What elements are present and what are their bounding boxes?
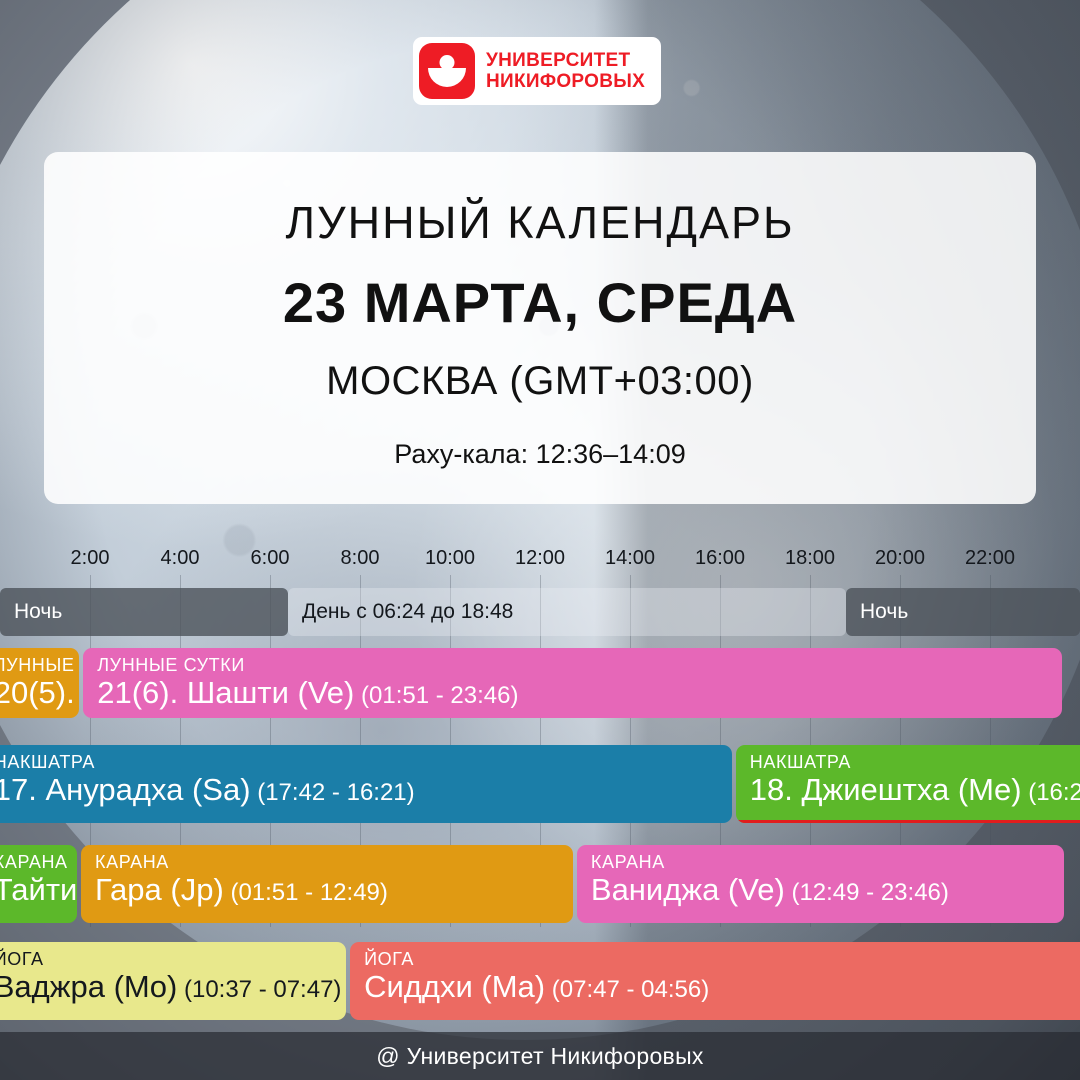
brand-name: УНИВЕРСИТЕТ НИКИФОРОВЫХ	[486, 50, 645, 92]
night-segment: Ночь	[0, 588, 288, 636]
segment-title: 20(5). Панчами (Ju)	[0, 675, 79, 711]
smiling-moon-icon	[419, 43, 475, 99]
timeline-rows: ЛУННЫЕ СУТКИ20(5). Панчами (Ju)ЛУННЫЕ СУ…	[0, 640, 1080, 1030]
timeline-segment[interactable]: ЙОГАВаджра (Mo) (10:37 - 07:47)	[0, 942, 346, 1020]
rahu-kala-text: Раху-кала: 12:36–14:09	[394, 441, 685, 468]
segment-range: (10:37 - 07:47)	[177, 976, 341, 1003]
segment-range: (17:42 - 16:21)	[251, 779, 415, 806]
day-segment: День с 06:24 до 18:48	[288, 588, 846, 636]
timeline-row-nakshatra: НАКШАТРА17. Анурадха (Sa) (17:42 - 16:21…	[0, 745, 1080, 823]
day-night-label: Ночь	[0, 600, 62, 624]
timeline-row-lunar-day: ЛУННЫЕ СУТКИ20(5). Панчами (Ju)ЛУННЫЕ СУ…	[0, 648, 1080, 718]
time-tick-label: 10:00	[425, 547, 475, 570]
time-tick-label: 2:00	[71, 547, 110, 570]
segment-range: (01:51 - 23:46)	[354, 682, 518, 709]
segment-title: Ваджра (Mo) (10:37 - 07:47)	[0, 969, 346, 1008]
lunar-calendar-infographic: УНИВЕРСИТЕТ НИКИФОРОВЫХ ЛУННЫЙ КАЛЕНДАРЬ…	[0, 0, 1080, 1080]
time-tick-label: 16:00	[695, 547, 745, 570]
segment-title: Гара (Jp) (01:51 - 12:49)	[95, 872, 573, 911]
segment-range: (07:47 - 04:56)	[545, 976, 709, 1003]
header-city-timezone: МОСКВА (GMT+03:00)	[326, 361, 754, 401]
time-tick-label: 20:00	[875, 547, 925, 570]
day-night-label: Ночь	[846, 600, 908, 624]
page-title: ЛУННЫЙ КАЛЕНДАРЬ	[285, 200, 794, 245]
segment-category: ЙОГА	[0, 949, 346, 969]
night-segment: Ночь	[846, 588, 1080, 636]
timeline-segment[interactable]: ЙОГАСиддхи (Ma) (07:47 - 04:56)	[350, 942, 1080, 1020]
time-tick-label: 8:00	[341, 547, 380, 570]
brand-name-line2: НИКИФОРОВЫХ	[486, 71, 645, 92]
timeline-segment[interactable]: НАКШАТРА18. Джиештха (Me) (16:21 - 14:31…	[736, 745, 1080, 823]
footer-handle: @ Университет Никифоровых	[376, 1043, 703, 1070]
segment-title: Сиддхи (Ma) (07:47 - 04:56)	[364, 969, 1080, 1008]
logo-smile	[428, 68, 466, 87]
segment-category: ЙОГА	[364, 949, 1080, 969]
segment-category: ЛУННЫЕ СУТКИ	[97, 655, 1061, 675]
time-tick-label: 12:00	[515, 547, 565, 570]
time-tick-label: 22:00	[965, 547, 1015, 570]
segment-category: КАРАНА	[95, 852, 573, 872]
segment-category: НАКШАТРА	[0, 752, 732, 772]
timeline-segment[interactable]: НАКШАТРА17. Анурадха (Sa) (17:42 - 16:21…	[0, 745, 732, 823]
brand-name-line1: УНИВЕРСИТЕТ	[486, 50, 645, 71]
time-tick-label: 6:00	[251, 547, 290, 570]
segment-category: ЛУННЫЕ СУТКИ	[0, 655, 79, 675]
footer-bar: @ Университет Никифоровых	[0, 1032, 1080, 1080]
segment-title: Тайтила (Me)	[0, 872, 77, 908]
timeline-segment[interactable]: ЛУННЫЕ СУТКИ21(6). Шашти (Ve) (01:51 - 2…	[83, 648, 1061, 718]
timeline-segment[interactable]: КАРАНАГара (Jp) (01:51 - 12:49)	[81, 845, 573, 923]
segment-title: 17. Анурадха (Sa) (17:42 - 16:21)	[0, 772, 732, 811]
day-night-label: День с 06:24 до 18:48	[288, 600, 513, 624]
timeline-row-yoga: ЙОГАВаджра (Mo) (10:37 - 07:47)ЙОГАСиддх…	[0, 942, 1080, 1020]
time-tick-label: 18:00	[785, 547, 835, 570]
brand-logo: УНИВЕРСИТЕТ НИКИФОРОВЫХ	[413, 37, 661, 105]
timeline-segment[interactable]: КАРАНАТайтила (Me)	[0, 845, 77, 923]
segment-category: КАРАНА	[0, 852, 77, 872]
header-date: 23 МАРТА, СРЕДА	[283, 275, 797, 331]
segment-underline	[736, 820, 1080, 823]
segment-category: КАРАНА	[591, 852, 1064, 872]
time-axis: 2:004:006:008:0010:0012:0014:0016:0018:0…	[0, 547, 1080, 587]
time-tick-label: 14:00	[605, 547, 655, 570]
segment-category: НАКШАТРА	[750, 752, 1080, 772]
segment-title: 21(6). Шашти (Ve) (01:51 - 23:46)	[97, 675, 1061, 714]
segment-title: Ваниджа (Ve) (12:49 - 23:46)	[591, 872, 1064, 911]
segment-range: (12:49 - 23:46)	[785, 879, 949, 906]
segment-title: 18. Джиештха (Me) (16:21 - 14:31)	[750, 772, 1080, 811]
header-card: ЛУННЫЙ КАЛЕНДАРЬ 23 МАРТА, СРЕДА МОСКВА …	[44, 152, 1036, 504]
time-tick-label: 4:00	[161, 547, 200, 570]
timeline-segment[interactable]: КАРАНАВаниджа (Ve) (12:49 - 23:46)	[577, 845, 1064, 923]
segment-range: (01:51 - 12:49)	[224, 879, 388, 906]
timeline-segment[interactable]: ЛУННЫЕ СУТКИ20(5). Панчами (Ju)	[0, 648, 79, 718]
day-night-band: НочьДень с 06:24 до 18:48Ночь	[0, 588, 1080, 636]
segment-range: (16:21 - 14:31)	[1022, 779, 1080, 806]
timeline-row-karana: КАРАНАТайтила (Me)КАРАНАГара (Jp) (01:51…	[0, 845, 1080, 923]
